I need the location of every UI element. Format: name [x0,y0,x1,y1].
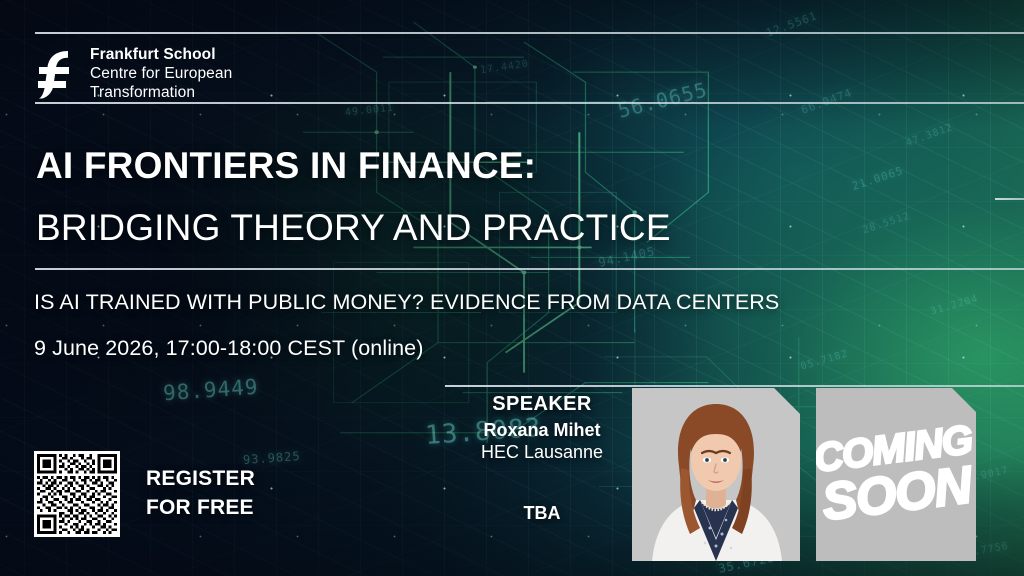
speaker-name: Roxana Mihet [457,420,627,441]
brand-subline-1: Centre for European [90,65,232,84]
divider-rule [445,385,1024,387]
headline-secondary: BRIDGING THEORY AND PRACTICE [36,208,671,248]
frankfurt-school-f-mark-icon [36,48,76,100]
register-label[interactable]: REGISTER FOR FREE [146,465,255,522]
headline-block: AI FRONTIERS IN FINANCE: BRIDGING THEORY… [36,146,671,248]
divider-rule [995,198,1024,200]
qr-code-icon[interactable] [34,451,120,537]
headline-primary: AI FRONTIERS IN FINANCE: [36,146,671,186]
session-subtitle: IS AI TRAINED WITH PUBLIC MONEY? EVIDENC… [34,290,779,315]
webinar-promo-banner: 56.065598.944993.982513.808335.672321.00… [0,0,1024,576]
brand-name: Frankfurt School [90,46,232,65]
divider-rule [35,32,1024,34]
register-line-1: REGISTER [146,465,255,494]
brand-subline-2: Transformation [90,84,232,103]
divider-rule [35,268,1024,270]
speaker-info-block: SPEAKER Roxana Mihet HEC Lausanne TBA [457,393,627,524]
speaker-photo [632,388,800,561]
speaker-heading: SPEAKER [457,393,627,416]
registration-block[interactable]: REGISTER FOR FREE [34,451,255,537]
speaker-second-slot: TBA [457,503,627,524]
coming-soon-placeholder: COMING SOON [816,388,976,561]
register-line-2: FOR FREE [146,494,255,523]
brand-logo: Frankfurt School Centre for European Tra… [36,46,232,103]
session-datetime: 9 June 2026, 17:00-18:00 CEST (online) [34,336,423,361]
speaker-affiliation: HEC Lausanne [457,442,627,463]
